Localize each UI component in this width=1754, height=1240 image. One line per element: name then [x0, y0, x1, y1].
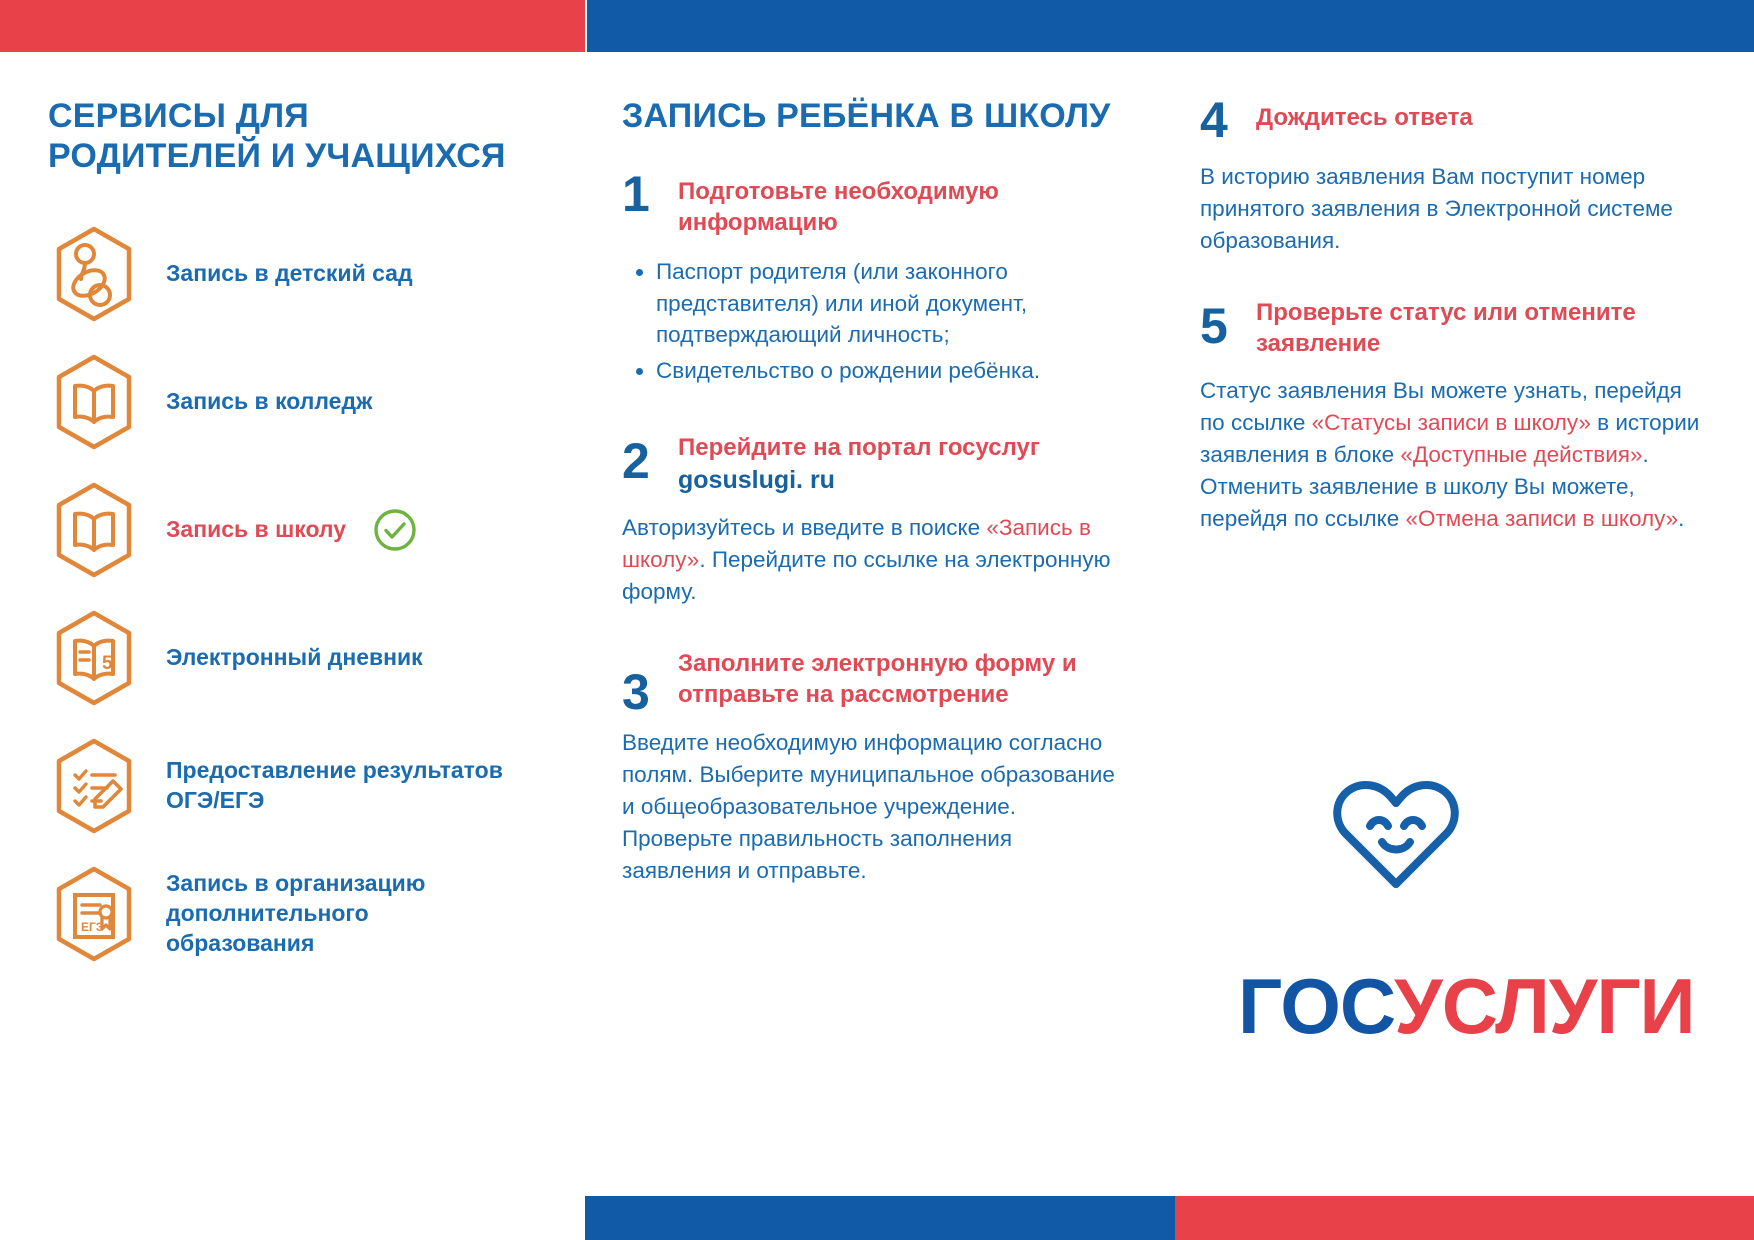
top-stripe-red-segment	[0, 0, 585, 52]
svg-text:ЕГЭ: ЕГЭ	[81, 920, 105, 934]
portal-url-link[interactable]: gosuslugi. ru	[678, 464, 1040, 497]
step-title: Дождитесь ответа	[1256, 96, 1473, 133]
logo-text-red: УСЛУГИ	[1394, 962, 1694, 1050]
service-item-kindergarten[interactable]: Запись в детский сад	[48, 210, 518, 338]
step-title: Подготовьте необходимую информацию	[678, 170, 1122, 238]
open-book-icon	[48, 478, 140, 582]
step-title: Перейдите на портал госуслуг gosuslugi. …	[678, 426, 1040, 496]
bottom-stripe-blue-segment	[585, 1196, 1175, 1240]
bottom-banner-stripe	[0, 1196, 1754, 1240]
certificate-icon: ЕГЭ	[48, 862, 140, 966]
service-item-college[interactable]: Запись в колледж	[48, 338, 518, 466]
step-5: 5 Проверьте статус или отмените заявлени…	[1200, 291, 1700, 359]
pacifier-icon	[48, 222, 140, 326]
service-item-diary[interactable]: 5 Электронный дневник	[48, 594, 518, 722]
services-column: СЕРВИСЫ ДЛЯ РОДИТЕЛЕЙ И УЧАЩИХСЯ Запись …	[48, 96, 518, 978]
top-banner-stripe	[0, 0, 1754, 52]
service-label: Предоставление результатов ОГЭ/ЕГЭ	[166, 756, 518, 816]
step-title-text: Перейдите на портал госуслуг	[678, 434, 1040, 461]
service-item-school[interactable]: Запись в школу	[48, 466, 518, 594]
service-label: Электронный дневник	[166, 643, 423, 673]
logo-text-blue: ГОС	[1238, 962, 1394, 1050]
gosuslugi-logo: ГОСУСЛУГИ	[1238, 967, 1695, 1045]
step-5-body: Статус заявления Вы можете узнать, перей…	[1200, 375, 1700, 535]
grade-book-icon: 5	[48, 606, 140, 710]
step-1: 1 Подготовьте необходимую информацию	[622, 170, 1122, 238]
enrollment-column-title: ЗАПИСЬ РЕБЁНКА В ШКОЛУ	[622, 96, 1122, 136]
open-book-icon	[48, 350, 140, 454]
status-link-label[interactable]: «Статусы записи в школу»	[1312, 410, 1591, 435]
smiling-heart-icon	[1330, 772, 1462, 897]
status-steps-column: 4 Дождитесь ответа В историю заявления В…	[1200, 96, 1700, 569]
step-number: 5	[1200, 291, 1256, 351]
services-list: Запись в детский сад Запись в колледж	[48, 210, 518, 978]
step-1-bullets: Паспорт родителя (или законного представ…	[622, 256, 1122, 386]
step-3-body: Введите необходимую информацию согласно …	[622, 727, 1122, 887]
step-2: 2 Перейдите на портал госуслуг gosuslugi…	[622, 426, 1122, 496]
svg-text:5: 5	[102, 653, 113, 674]
bottom-stripe-white-segment	[0, 1196, 585, 1240]
step-3: 3 Заполните электронную форму и отправьт…	[622, 642, 1122, 717]
step-2-body-pre: Авторизуйтесь и введите в поиске	[622, 515, 986, 540]
step-number: 4	[1200, 96, 1256, 145]
enrollment-steps-column: ЗАПИСЬ РЕБЁНКА В ШКОЛУ 1 Подготовьте нео…	[622, 96, 1122, 921]
step-number: 3	[622, 642, 678, 717]
list-item: Паспорт родителя (или законного представ…	[656, 256, 1122, 351]
top-stripe-blue-segment	[587, 0, 1754, 52]
step-4: 4 Дождитесь ответа	[1200, 96, 1700, 145]
service-item-extra-education[interactable]: ЕГЭ Запись в организацию дополнительного…	[48, 850, 518, 978]
step-number: 1	[622, 170, 678, 219]
service-label: Запись в школу	[166, 515, 346, 545]
step-5-text-4: .	[1678, 506, 1684, 531]
bottom-stripe-red-segment	[1175, 1196, 1754, 1240]
check-circle-icon	[372, 507, 418, 553]
checklist-pencil-icon	[48, 734, 140, 838]
cancel-link-label[interactable]: «Отмена записи в школу»	[1405, 506, 1678, 531]
service-item-exam-results[interactable]: Предоставление результатов ОГЭ/ЕГЭ	[48, 722, 518, 850]
step-2-body: Авторизуйтесь и введите в поиске «Запись…	[622, 512, 1122, 608]
step-title: Заполните электронную форму и отправьте …	[678, 642, 1122, 710]
step-number: 2	[622, 426, 678, 486]
services-column-title: СЕРВИСЫ ДЛЯ РОДИТЕЛЕЙ И УЧАЩИХСЯ	[48, 96, 518, 176]
service-label: Запись в детский сад	[166, 259, 413, 289]
service-label: Запись в колледж	[166, 387, 372, 417]
list-item: Свидетельство о рождении ребёнка.	[656, 355, 1122, 387]
available-actions-label[interactable]: «Доступные действия»	[1400, 442, 1642, 467]
service-label: Запись в организацию дополнительного обр…	[166, 869, 518, 959]
step-title: Проверьте статус или отмените заявление	[1256, 291, 1700, 359]
step-4-body: В историю заявления Вам поступит номер п…	[1200, 161, 1700, 257]
